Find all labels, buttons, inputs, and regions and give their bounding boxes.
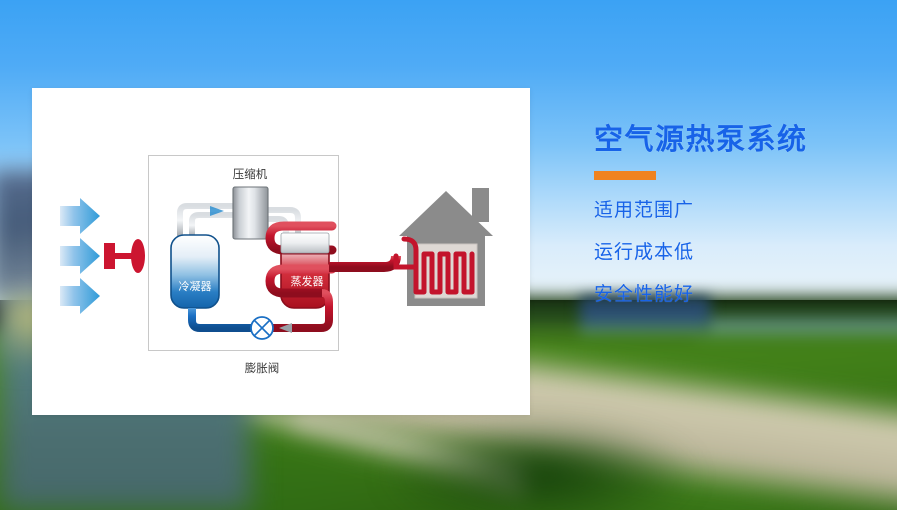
compressor-label: 压缩机: [233, 167, 268, 181]
fan-motor-icon: [104, 239, 145, 273]
expansion-valve-icon: [251, 317, 273, 339]
slide-canvas: 压缩机 冷凝器 蒸发器: [0, 0, 897, 510]
air-intake-arrow-2: [60, 238, 100, 274]
text-column: 空气源热泵系统 适用范围广 运行成本低 安全性能好: [594, 124, 884, 304]
house-supply-pipes: [329, 239, 404, 267]
evaporator-label: 蒸发器: [291, 274, 324, 288]
heat-pump-diagram-svg: 压缩机 冷凝器 蒸发器: [32, 88, 530, 415]
liquid-line-cold: [192, 308, 254, 328]
feature-list: 适用范围广 运行成本低 安全性能好: [594, 201, 884, 304]
list-item: 适用范围广: [594, 201, 884, 220]
heat-pump-diagram: 压缩机 冷凝器 蒸发器: [32, 88, 530, 415]
list-item: 运行成本低: [594, 243, 884, 262]
condenser: [171, 235, 219, 308]
evaporator-plate: [281, 233, 329, 253]
air-intake-arrow-group: [60, 198, 100, 314]
expansion-valve-label: 膨胀阀: [245, 361, 280, 375]
condenser-label: 冷凝器: [179, 279, 212, 293]
air-intake-arrow-1: [60, 198, 100, 234]
page-title: 空气源热泵系统: [594, 124, 884, 157]
background-grass-shadow: [380, 420, 700, 510]
list-item: 安全性能好: [594, 285, 884, 304]
title-accent-bar: [594, 171, 656, 180]
air-intake-arrow-3: [60, 278, 100, 314]
compressor: [233, 187, 268, 239]
